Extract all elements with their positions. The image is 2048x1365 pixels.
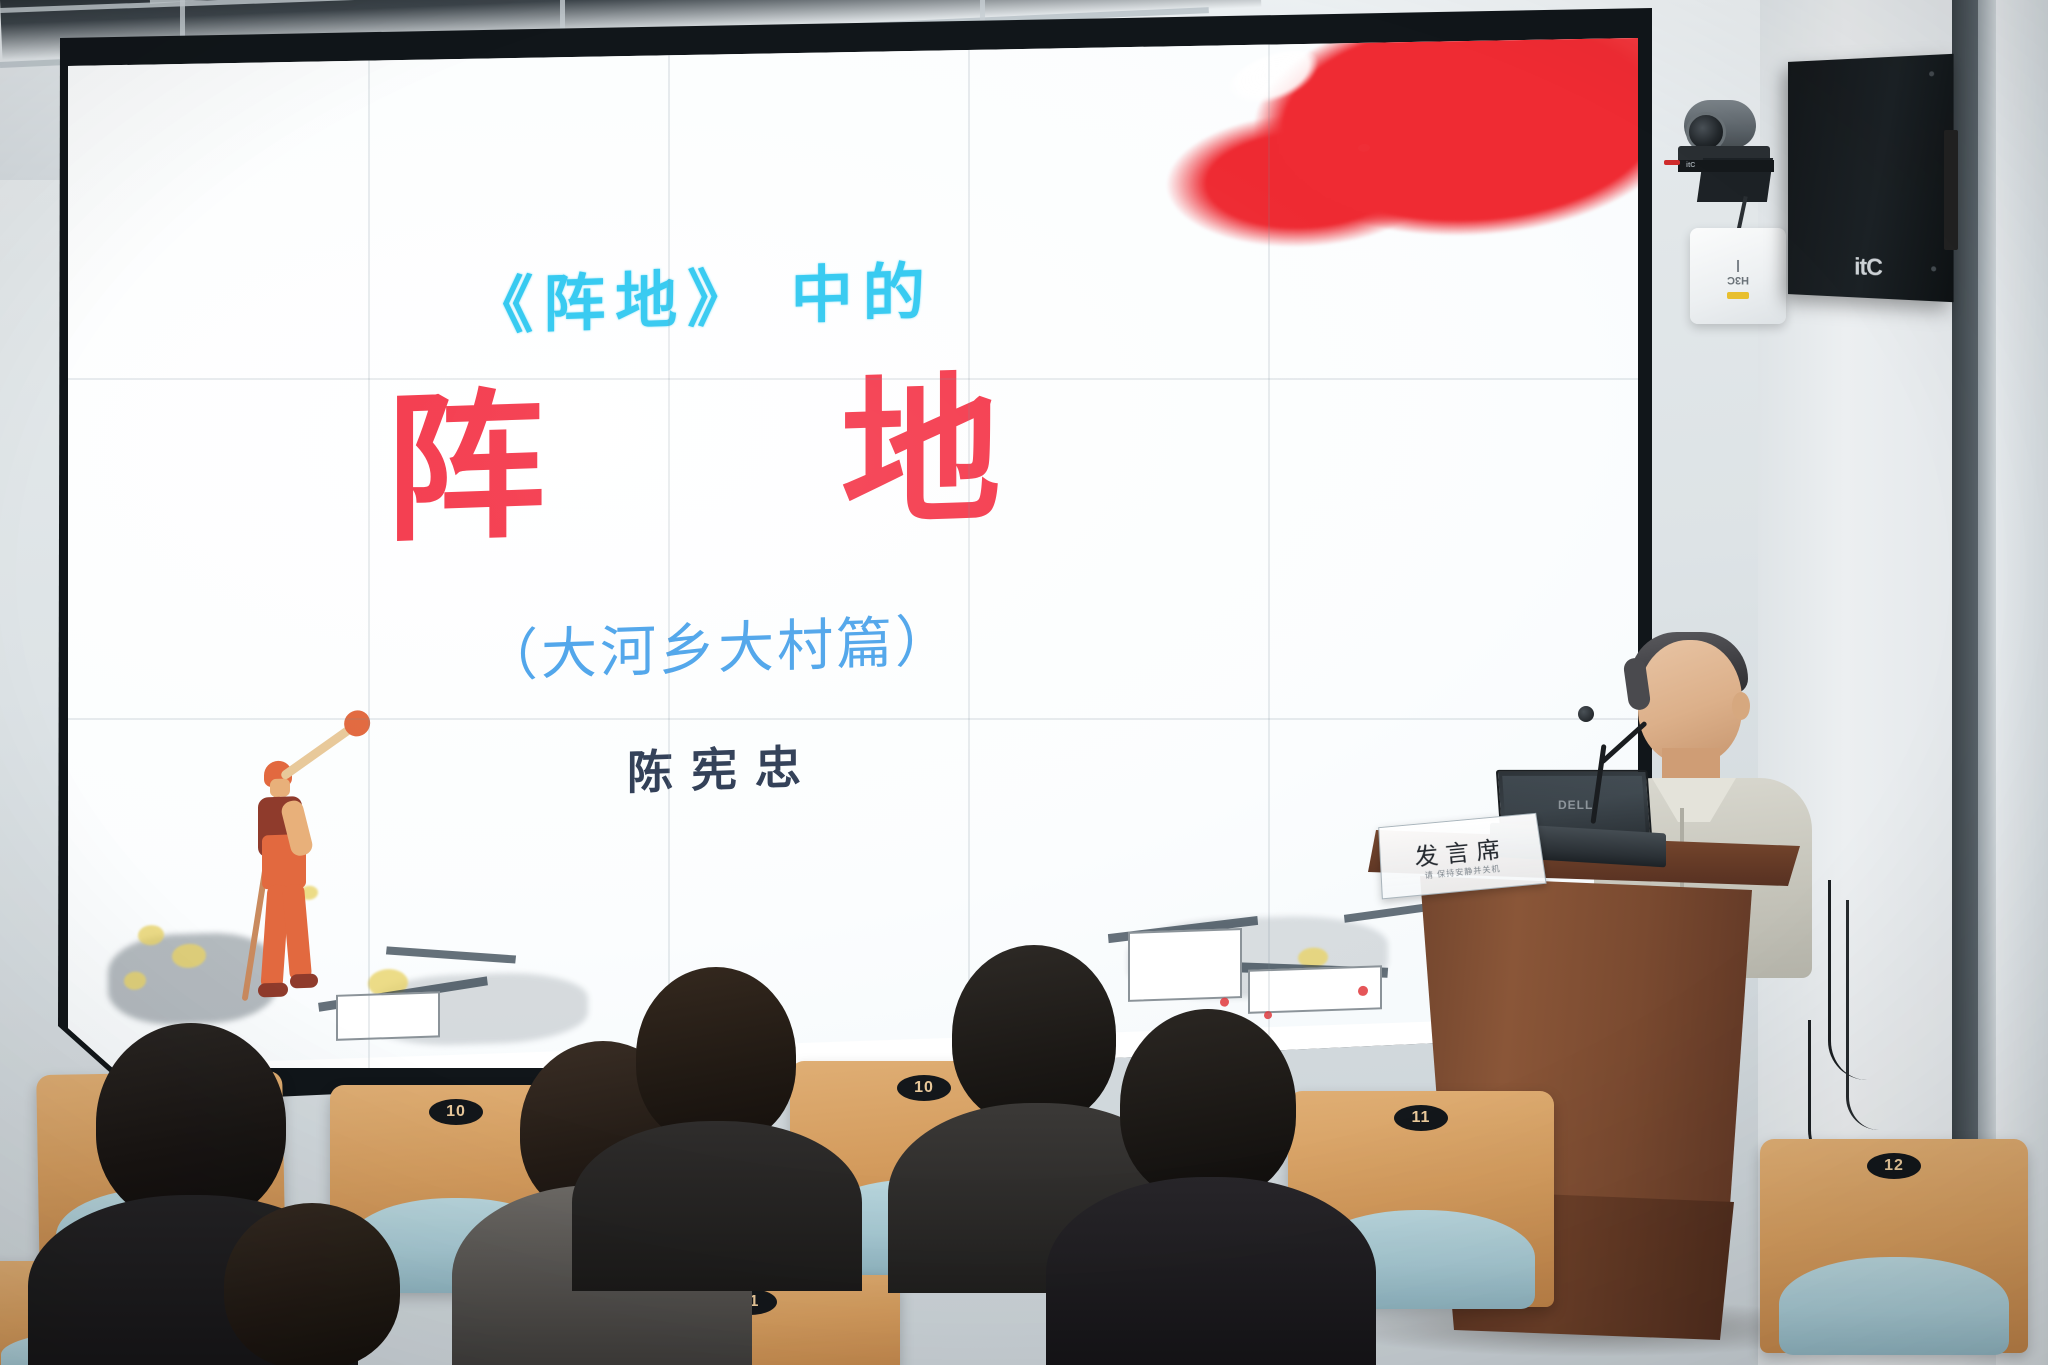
- led-panel-seam: [368, 38, 370, 1068]
- audience-shoulders: [1046, 1177, 1376, 1365]
- wall-speaker: itC: [1788, 54, 1954, 302]
- camera-brand-label: itC: [1686, 162, 1695, 169]
- audience-head: [1120, 1009, 1296, 1201]
- presenter-ear: [1732, 692, 1750, 720]
- camera-control-strip: itC: [1678, 160, 1774, 172]
- speaker-brand-label: itC: [1788, 252, 1954, 286]
- ap-indicator-bar: ❙: [1690, 258, 1786, 272]
- speaker-screw: [1929, 71, 1934, 76]
- audience-head: [224, 1203, 400, 1365]
- led-panel-seam: [68, 378, 1638, 380]
- led-panel-seam: [1268, 38, 1270, 1068]
- camera-status-led: [1664, 160, 1680, 165]
- slide-subtitle: （大河乡大村篇）: [68, 573, 1638, 707]
- speaker-mount-bracket: [1944, 130, 1958, 250]
- audience-members: [0, 945, 2048, 1365]
- face: [270, 778, 290, 797]
- ptz-camera: [1678, 96, 1770, 166]
- wifi-access-point: ❙ H3C: [1690, 228, 1786, 324]
- presenter-head: [1638, 640, 1742, 764]
- ap-status-led: [1727, 292, 1749, 299]
- audience-head: [96, 1023, 286, 1223]
- audience-shoulders: [572, 1121, 862, 1291]
- microphone-head-icon: [1578, 706, 1594, 722]
- led-panel-seam: [68, 718, 1638, 720]
- led-panel-seam: [668, 38, 670, 1068]
- slide-kicker-line: 《阵地》 中的: [68, 217, 1638, 360]
- screenshot-root: 《阵地》 中的 阵 地 （大河乡大村篇） 陈宪忠: [0, 0, 2048, 1365]
- led-panel-seam: [968, 38, 970, 1068]
- laptop-brand-label: DELL: [1558, 798, 1593, 812]
- access-point-brand-label: H3C: [1690, 274, 1786, 286]
- audience-head: [952, 945, 1116, 1125]
- audience-head: [636, 967, 796, 1145]
